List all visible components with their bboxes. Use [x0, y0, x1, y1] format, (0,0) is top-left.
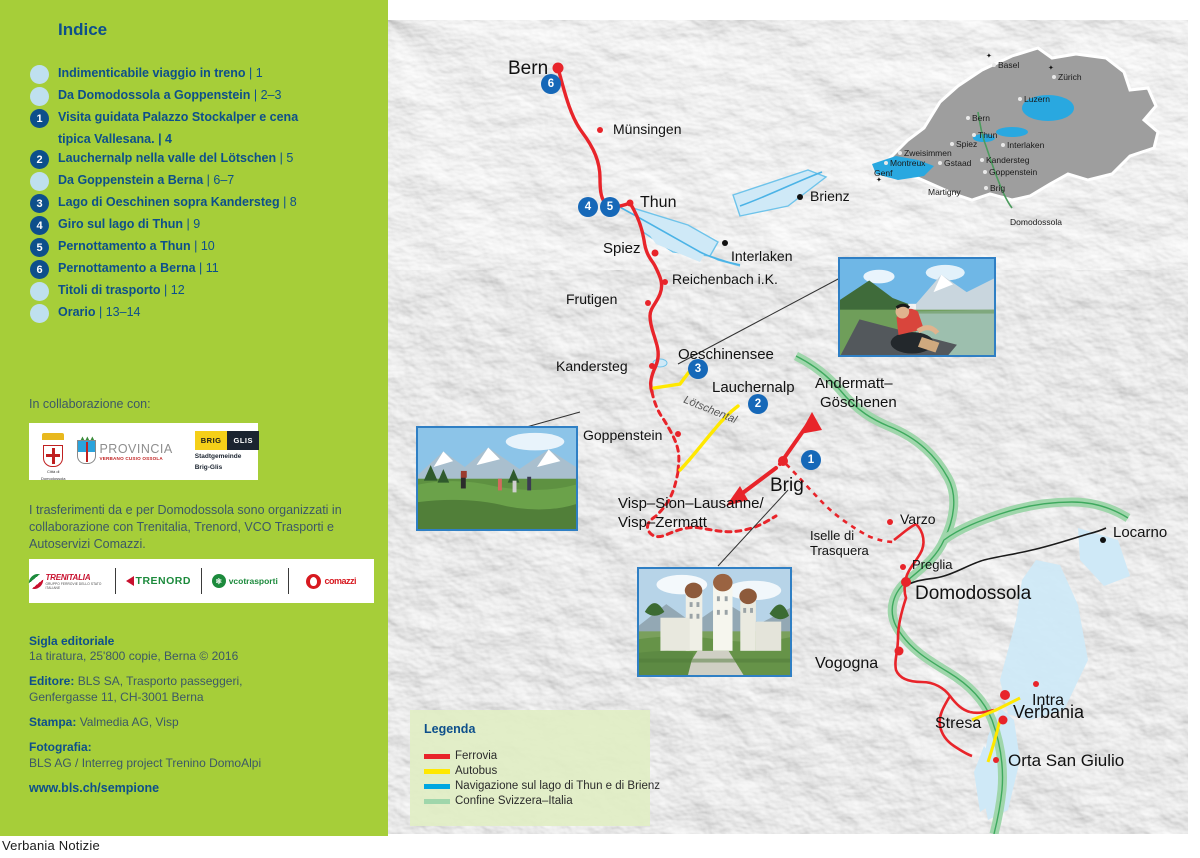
- index-item-4[interactable]: 2Lauchernalp nella valle del Lötschen | …: [30, 149, 380, 169]
- map-stage-marker-6[interactable]: 6: [541, 74, 561, 94]
- index-item-label: Indimenticabile viaggio in treno | 1: [58, 64, 263, 83]
- index-item-label: Lago di Oeschinen sopra Kandersteg | 8: [58, 193, 297, 212]
- inset-label-gstaad: Gstaad: [944, 158, 971, 168]
- inset-dot: [983, 170, 987, 174]
- inset-label-luzern: Luzern: [1024, 94, 1050, 104]
- city-dot-orta-san-giulio[interactable]: [993, 757, 999, 763]
- inset-label-spiez: Spiez: [956, 139, 977, 149]
- inset-dot: [1004, 220, 1008, 224]
- city-dot-intra[interactable]: [1033, 681, 1039, 687]
- city-label-goppenstein: Goppenstein: [583, 427, 662, 443]
- index-item-3[interactable]: 1Visita guidata Palazzo Stockalper e cen…: [30, 108, 380, 128]
- index-item-1[interactable]: Indimenticabile viaggio in treno | 1: [30, 64, 380, 84]
- inset-dot: [972, 133, 976, 137]
- switzerland-overview-inset: ✦ ✦ ✦ BaselZürichLuzernBernThunInterlake…: [862, 28, 1180, 238]
- print-value: Valmedia AG, Visp: [80, 715, 179, 729]
- imprint-print: Stampa: Valmedia AG, Visp: [29, 714, 374, 730]
- legend-row: Autobus: [424, 765, 636, 777]
- map-stage-marker-3[interactable]: 3: [688, 359, 708, 379]
- provincia-vco-logo: ▲▲▲ PROVINCIA VERBANO CUSIO OSSOLA: [77, 440, 172, 464]
- stockalper-palace-photo: [637, 567, 792, 677]
- city-label-thun: Thun: [640, 194, 676, 212]
- index-item-label: Pernottamento a Thun | 10: [58, 237, 215, 256]
- index-item-label: Lauchernalp nella valle del Lötschen | 5: [58, 149, 293, 168]
- domodossola-caption-2: Domodossola: [41, 476, 65, 481]
- inset-label-bern: Bern: [972, 113, 990, 123]
- inset-dot: [1018, 97, 1022, 101]
- city-label-preglia: Preglia: [912, 557, 952, 572]
- airport-icon-basel: ✦: [986, 52, 992, 60]
- city-label-stresa: Stresa: [935, 715, 981, 733]
- map-stage-marker-2[interactable]: 2: [748, 394, 768, 414]
- transport-operator-logos: TRENITALIA GRUPPO FERROVIE DELLO STATO I…: [29, 559, 374, 603]
- city-label-spiez: Spiez: [603, 240, 641, 257]
- index-item-label: Da Goppenstein a Berna | 6–7: [58, 171, 234, 190]
- inset-dot: [884, 161, 888, 165]
- inset-label-brig: Brig: [990, 183, 1005, 193]
- section-bullet-icon: [30, 65, 49, 84]
- index-item-5[interactable]: Da Goppenstein a Berna | 6–7: [30, 171, 380, 191]
- city-dot-frutigen[interactable]: [645, 300, 651, 306]
- legend-swatch-icon: [424, 799, 450, 804]
- index-title: Indice: [58, 20, 107, 40]
- inset-label-zweisimmen: Zweisimmen: [904, 148, 952, 158]
- section-bullet-icon: [30, 87, 49, 106]
- inset-label-interlaken: Interlaken: [1007, 140, 1044, 150]
- place-label-trasquera: Trasquera: [810, 543, 869, 558]
- city-label-brienz: Brienz: [810, 188, 850, 204]
- place-label-visp-sion-lausanne-: Visp–Sion–Lausanne/: [618, 495, 764, 512]
- trenitalia-wordmark: TRENITALIA: [45, 573, 114, 582]
- city-dot-interlaken[interactable]: [722, 240, 728, 246]
- inset-dot: [992, 63, 996, 67]
- brig-caption-2: Brig-Glis: [195, 464, 259, 472]
- legend-swatch-icon: [424, 784, 450, 789]
- vcotrasporti-logo: ⚛ vcotrasporti: [202, 566, 288, 596]
- imprint-block: Sigla editoriale 1a tiratura, 25'800 cop…: [29, 634, 374, 795]
- section-bullet-icon: [30, 304, 49, 323]
- legend-row: Ferrovia: [424, 750, 636, 762]
- city-dot-reichenbach-i-k-[interactable]: [662, 279, 668, 285]
- city-label-reichenbach-i-k-: Reichenbach i.K.: [672, 271, 778, 287]
- vcotrasporti-wordmark: vcotrasporti: [229, 576, 278, 586]
- index-item-label: Visita guidata Palazzo Stockalper e cena: [58, 108, 298, 127]
- index-item-label: Pernottamento a Berna | 11: [58, 259, 219, 278]
- city-dot-preglia[interactable]: [900, 564, 906, 570]
- brig-glis-logo: BRIG GLIS Stadtgemeinde Brig-Glis: [195, 431, 259, 472]
- imprint-publisher: Editore: BLS SA, Trasporto passeggeri, G…: [29, 673, 374, 705]
- brig-tag: BRIG: [195, 431, 228, 450]
- comazzi-logo: comazzi: [289, 566, 375, 596]
- index-item-2[interactable]: Da Domodossola a Goppenstein | 2–3: [30, 86, 380, 106]
- city-label-brig: Brig: [770, 475, 804, 497]
- inset-label-montreux: Montreux: [890, 158, 925, 168]
- legend-title: Legenda: [424, 722, 636, 736]
- city-dot-thun[interactable]: [627, 200, 634, 207]
- inset-label-thun: Thun: [978, 130, 997, 140]
- inset-dot: [966, 116, 970, 120]
- city-dot-verbania[interactable]: [1000, 690, 1010, 700]
- city-label-vogogna: Vogogna: [815, 655, 878, 673]
- stage-badge-1: 1: [30, 109, 49, 128]
- collaboration-label: In collaborazione con:: [29, 397, 151, 411]
- city-label-varzo: Varzo: [900, 511, 936, 527]
- stage-badge-2: 2: [30, 150, 49, 169]
- legend-swatch-icon: [424, 769, 450, 774]
- place-label-andermatt-: Andermatt–: [815, 375, 893, 392]
- city-label-frutigen: Frutigen: [566, 291, 617, 307]
- city-label-locarno: Locarno: [1113, 524, 1167, 541]
- route-map: ✦ ✦ ✦ BaselZürichLuzernBernThunInterlake…: [388, 20, 1188, 834]
- comazzi-mark-icon: [306, 574, 321, 589]
- left-info-panel: Indice Indimenticabile viaggio in treno …: [0, 0, 388, 836]
- inset-dot: [898, 151, 902, 155]
- inset-dot: [922, 190, 926, 194]
- inset-label-basel: Basel: [998, 60, 1019, 70]
- city-dot-goppenstein[interactable]: [675, 431, 681, 437]
- inset-dot: [1001, 143, 1005, 147]
- index-item-label: Titoli di trasporto | 12: [58, 281, 185, 300]
- transfer-note: I trasferimenti da e per Domodossola son…: [29, 502, 369, 553]
- index-item-label: Da Domodossola a Goppenstein | 2–3: [58, 86, 281, 105]
- place-label-g-schenen: Göschenen: [820, 394, 897, 411]
- stage-badge-4: 4: [30, 216, 49, 235]
- section-bullet-icon: [30, 282, 49, 301]
- legend-swatch-icon: [424, 754, 450, 759]
- index-item-label: Orario | 13–14: [58, 303, 140, 322]
- vco-mark-icon: ⚛: [212, 574, 226, 588]
- inset-label-martigny: Martigny: [928, 187, 961, 197]
- imprint-photo: Fotografia: BLS AG / Interreg project Tr…: [29, 739, 374, 771]
- photo-label: Fotografia:: [29, 740, 92, 754]
- section-bullet-icon: [30, 172, 49, 191]
- legend-label: Confine Svizzera–Italia: [455, 795, 573, 807]
- publisher-line2: Genfergasse 11, CH-3001 Berna: [29, 690, 204, 704]
- index-item-7[interactable]: 4Giro sul lago di Thun | 9: [30, 215, 380, 235]
- index-item-8[interactable]: 5Pernottamento a Thun | 10: [30, 237, 380, 257]
- photo-value: BLS AG / Interreg project Trenino DomoAl…: [29, 756, 261, 770]
- legend-row: Confine Svizzera–Italia: [424, 795, 636, 807]
- trenord-arrow-icon: [126, 576, 134, 586]
- index-item-6[interactable]: 3Lago di Oeschinen sopra Kandersteg | 8: [30, 193, 380, 213]
- city-dot-stresa[interactable]: [999, 716, 1008, 725]
- index-item-11[interactable]: Orario | 13–14: [30, 303, 380, 323]
- imprint-heading: Sigla editoriale: [29, 634, 374, 648]
- legend-label: Navigazione sul lago di Thun e di Brienz: [455, 780, 660, 792]
- comazzi-wordmark: comazzi: [324, 576, 356, 586]
- oeschinensee-boat-photo: [838, 257, 996, 357]
- city-label-bern: Bern: [508, 58, 548, 80]
- index-list: Indimenticabile viaggio in treno | 1Da D…: [30, 64, 380, 325]
- inset-dot: [938, 161, 942, 165]
- city-dot-kandersteg[interactable]: [649, 363, 655, 369]
- legend-row: Navigazione sul lago di Thun e di Brienz: [424, 780, 636, 792]
- inset-label-goppenstein: Goppenstein: [989, 167, 1037, 177]
- publisher-line1: BLS SA, Trasporto passeggeri,: [78, 674, 243, 688]
- legend-label: Autobus: [455, 765, 497, 777]
- hikers-meadow-photo: [416, 426, 578, 531]
- city-label-m-nsingen: Münsingen: [613, 121, 682, 137]
- city-dot-brienz[interactable]: [797, 194, 803, 200]
- inset-label-z-rich: Zürich: [1058, 72, 1082, 82]
- place-label-visp-zermatt: Visp–Zermatt: [618, 514, 707, 531]
- stage-badge-3: 3: [30, 194, 49, 213]
- glis-tag: GLIS: [227, 431, 259, 450]
- city-dot-brig[interactable]: [778, 456, 788, 466]
- provincia-shield-icon: ▲▲▲: [77, 440, 96, 464]
- map-legend: Legenda FerroviaAutobusNavigazione sul l…: [410, 710, 650, 826]
- city-dot-bern[interactable]: [553, 63, 564, 74]
- inset-label-kandersteg: Kandersteg: [986, 155, 1029, 165]
- city-dot-m-nsingen[interactable]: [597, 127, 603, 133]
- map-stage-marker-4[interactable]: 4: [578, 197, 598, 217]
- trenord-wordmark: TRENORD: [136, 575, 191, 587]
- stage-badge-5: 5: [30, 238, 49, 257]
- map-stage-marker-1[interactable]: 1: [801, 450, 821, 470]
- city-dot-spiez[interactable]: [652, 250, 659, 257]
- place-label-lauchernalp: Lauchernalp: [712, 379, 795, 396]
- index-item-10[interactable]: Titoli di trasporto | 12: [30, 281, 380, 301]
- trenitalia-logo: TRENITALIA GRUPPO FERROVIE DELLO STATO I…: [29, 566, 115, 596]
- inset-label-genf: Genf: [874, 168, 892, 178]
- airport-icon-zurich: ✦: [1048, 64, 1054, 72]
- page-bottom-strip: [0, 836, 1200, 858]
- city-label-domodossola: Domodossola: [915, 583, 1031, 605]
- imprint-edition: 1a tiratura, 25'800 copie, Berna © 2016: [29, 648, 374, 664]
- city-dot-vogogna[interactable]: [895, 647, 904, 656]
- inset-dot: [868, 171, 872, 175]
- legend-label: Ferrovia: [455, 750, 497, 762]
- city-dot-domodossola[interactable]: [901, 577, 911, 587]
- map-stage-marker-5[interactable]: 5: [600, 197, 620, 217]
- trenitalia-mark-icon: [27, 574, 45, 589]
- provincia-subtitle: VERBANO CUSIO OSSOLA: [99, 456, 172, 461]
- city-label-interlaken: Interlaken: [731, 248, 792, 264]
- bls-website-link[interactable]: www.bls.ch/sempione: [29, 781, 374, 795]
- domodossola-caption-1: Città di: [41, 469, 65, 474]
- publisher-label: Editore:: [29, 674, 74, 688]
- domodossola-crest-icon: Città di Domodossola: [41, 433, 65, 471]
- index-item-label-continued: tipica Vallesana. | 4: [58, 130, 380, 149]
- index-item-label: Giro sul lago di Thun | 9: [58, 215, 200, 234]
- trenord-logo: TRENORD: [116, 566, 202, 596]
- city-dot-locarno[interactable]: [1100, 537, 1106, 543]
- city-label-kandersteg: Kandersteg: [556, 358, 628, 374]
- partner-logos: Città di Domodossola ▲▲▲ PROVINCIA VERBA…: [29, 423, 258, 480]
- trenitalia-subtitle: GRUPPO FERROVIE DELLO STATO ITALIANE: [45, 582, 114, 590]
- page-caption: Verbania Notizie: [2, 838, 100, 853]
- inset-label-domodossola: Domodossola: [1010, 217, 1062, 227]
- provincia-wordmark: PROVINCIA: [99, 442, 172, 456]
- inset-dot: [984, 186, 988, 190]
- place-label-iselle-di: Iselle di: [810, 528, 854, 543]
- inset-dot: [1052, 75, 1056, 79]
- stage-badge-6: 6: [30, 260, 49, 279]
- brig-caption-1: Stadtgemeinde: [195, 453, 259, 461]
- inset-dot: [950, 142, 954, 146]
- print-label: Stampa:: [29, 715, 76, 729]
- city-label-orta-san-giulio: Orta San Giulio: [1008, 751, 1124, 771]
- index-item-9[interactable]: 6Pernottamento a Berna | 11: [30, 259, 380, 279]
- city-dot-varzo[interactable]: [887, 519, 893, 525]
- inset-dot: [980, 158, 984, 162]
- city-label-verbania: Verbania: [1013, 702, 1084, 723]
